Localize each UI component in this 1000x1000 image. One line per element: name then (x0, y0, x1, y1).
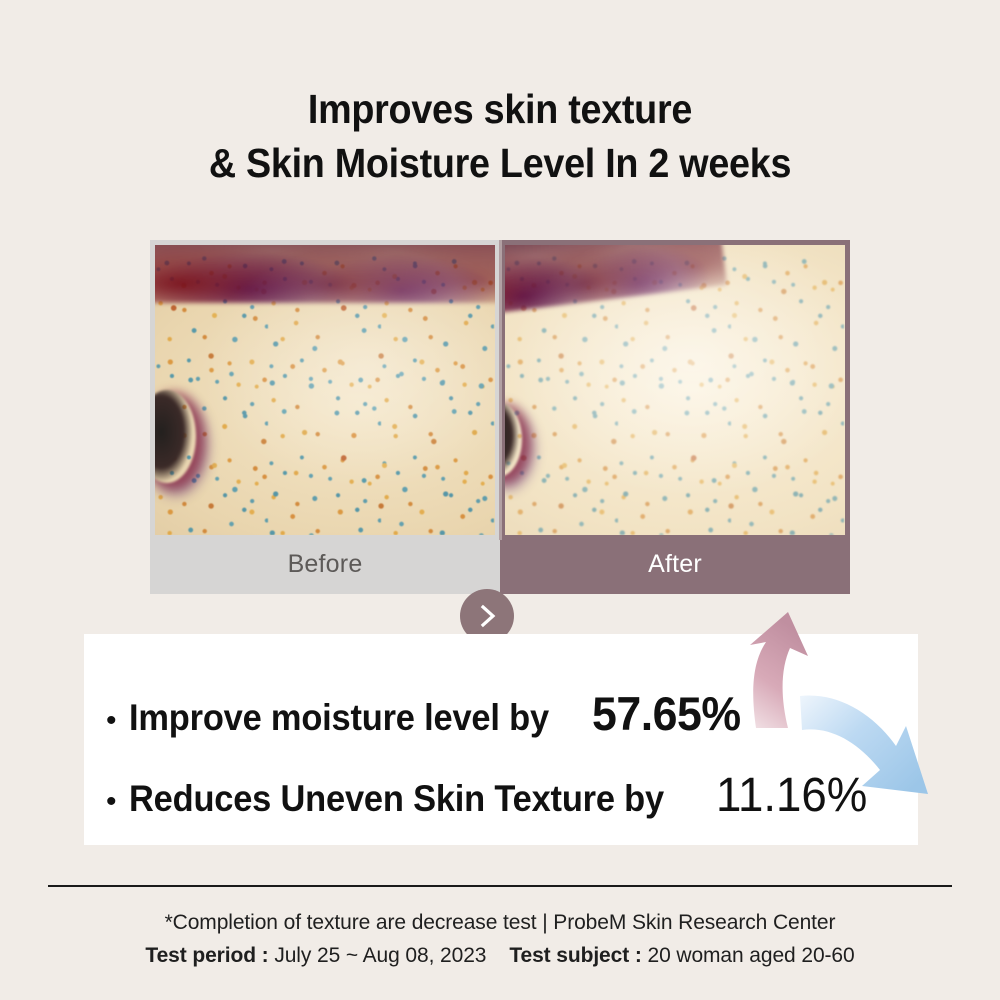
before-after-comparison[interactable]: Before After (150, 240, 850, 594)
page-title: Improves skin texture & Skin Moisture Le… (0, 82, 1000, 190)
arrow-down-icon (800, 690, 930, 808)
page-title-line-2: & Skin Moisture Level In 2 weeks (40, 136, 960, 190)
after-photo (505, 245, 845, 535)
result-bullet-2: • Reduces Uneven Skin Texture by 11.16% (106, 768, 875, 823)
test-subject-value: 20 woman aged 20-60 (647, 944, 854, 967)
skin-top-band (155, 245, 495, 303)
page-title-line-1: Improves skin texture (40, 82, 960, 136)
test-subject-label: Test subject : (509, 944, 641, 967)
before-label: Before (155, 535, 495, 594)
result-label-1: Improve moisture level by (129, 697, 549, 739)
test-period-label: Test period : (145, 944, 268, 967)
footer-note: *Completion of texture are decrease test… (0, 906, 1000, 939)
bullet-dot-icon: • (106, 706, 117, 736)
bullet-dot-icon: • (106, 787, 117, 817)
result-label-2: Reduces Uneven Skin Texture by (129, 778, 664, 820)
test-period-value: July 25 ~ Aug 08, 2023 (274, 944, 486, 967)
before-photo (155, 245, 495, 535)
chevron-right-icon (474, 603, 500, 629)
footer: *Completion of texture are decrease test… (0, 906, 1000, 972)
after-label: After (505, 535, 845, 594)
before-panel: Before (150, 240, 500, 594)
footer-test-info: Test period : July 25 ~ Aug 08, 2023 Tes… (0, 939, 1000, 972)
after-panel: After (500, 240, 850, 594)
result-bullet-1: • Improve moisture level by 57.65% (106, 686, 748, 741)
result-value-1: 57.65% (592, 686, 741, 741)
footer-divider (48, 885, 952, 887)
comparison-split-line (499, 240, 502, 540)
